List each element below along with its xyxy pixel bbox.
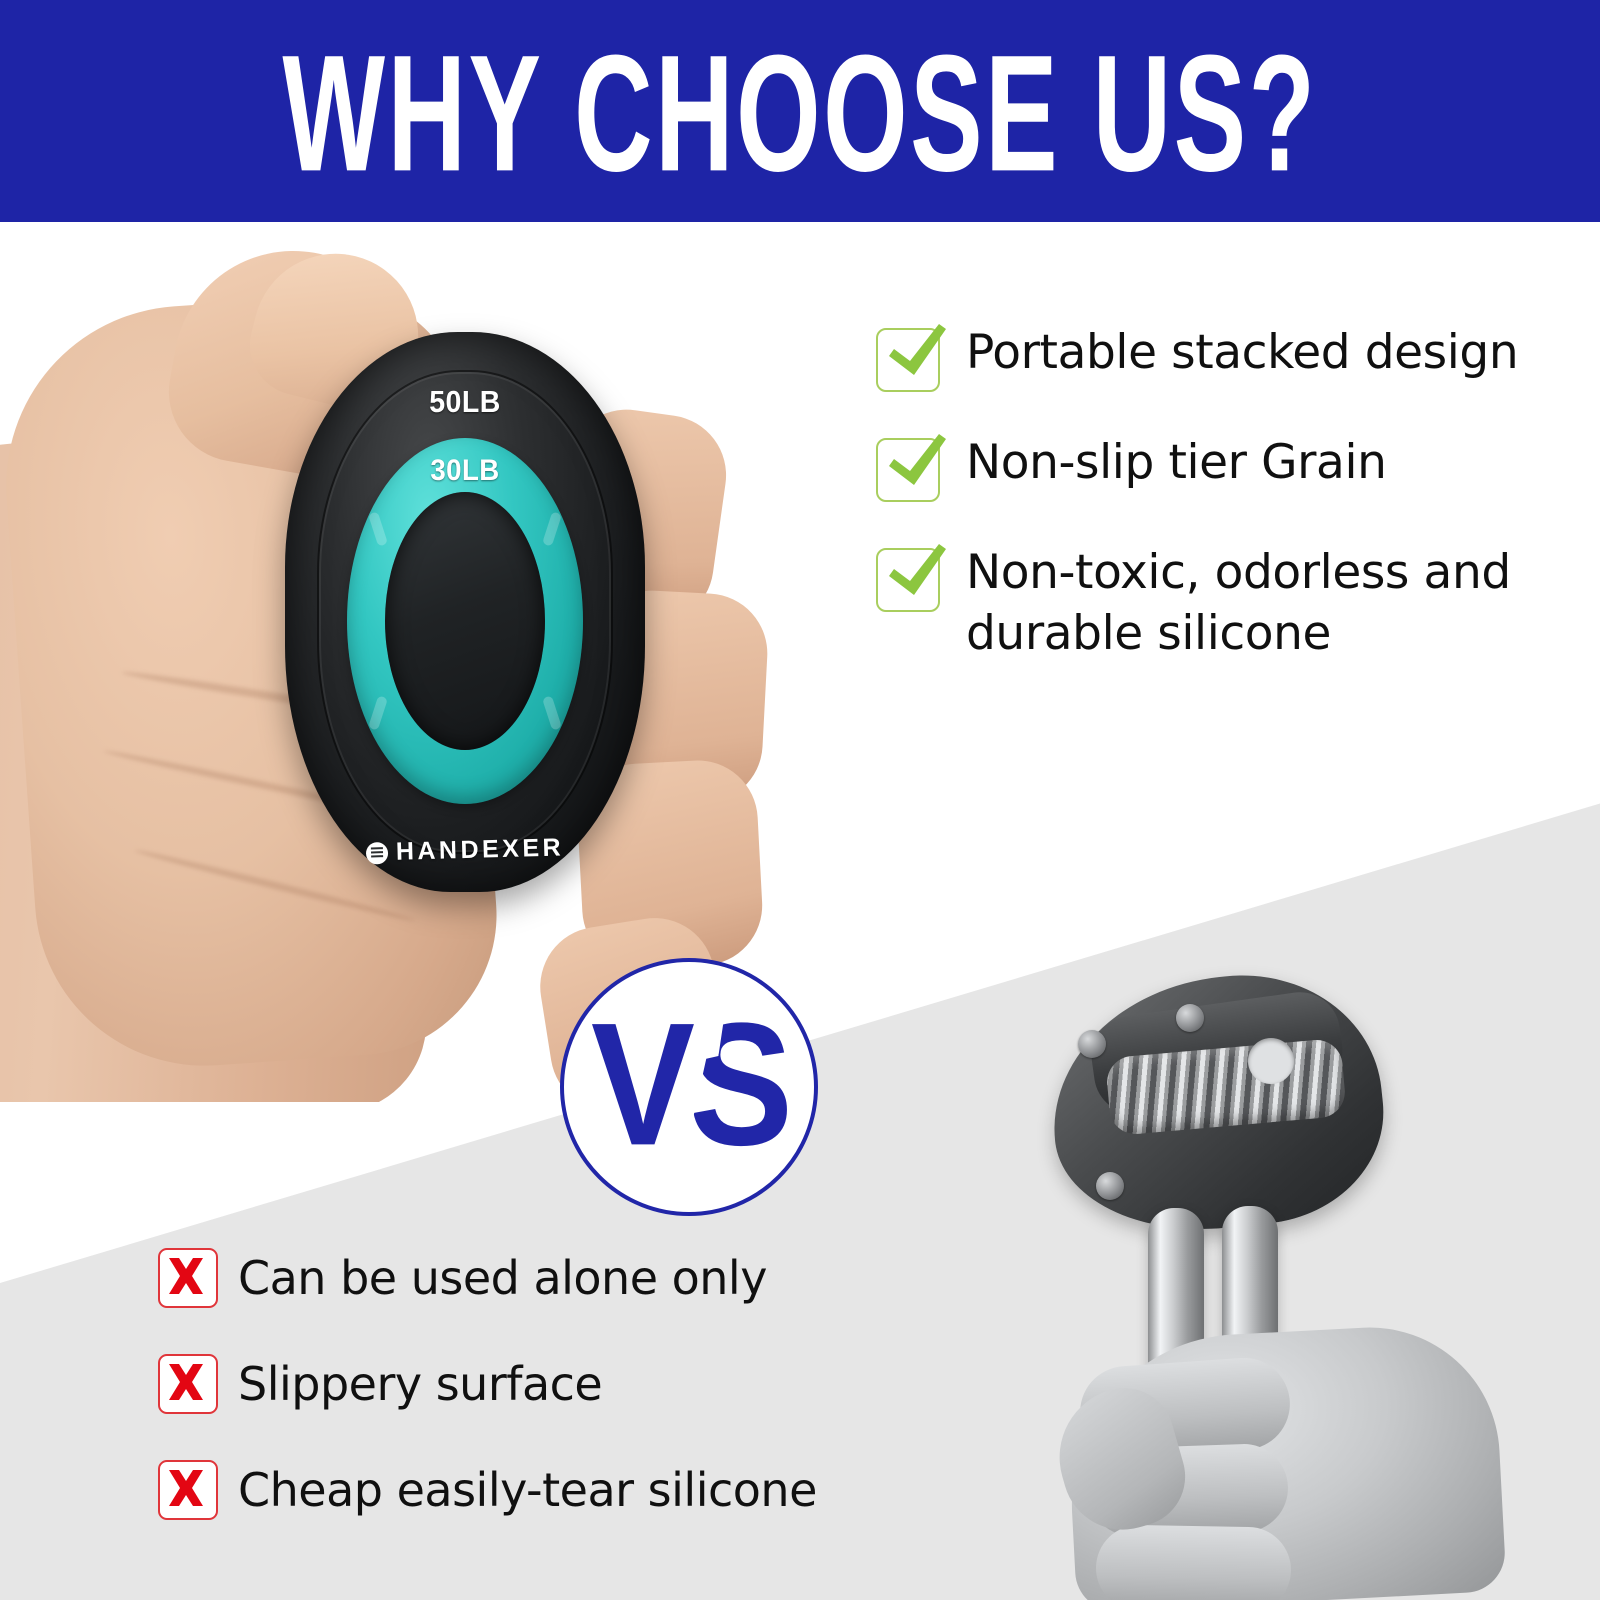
versus-label: VS xyxy=(591,998,787,1173)
versus-badge: VS xyxy=(560,958,818,1216)
teal-inner-ring xyxy=(347,438,583,804)
grip-trainer: 50LB 30LB HANDEXER xyxy=(285,332,645,892)
pros-item-label: Non-toxic, odorless and durable silicone xyxy=(966,542,1566,664)
header-banner: WHY CHOOSE US? xyxy=(0,0,1600,222)
teal-ring-nub xyxy=(542,695,562,730)
teal-ring-hole xyxy=(385,492,545,750)
list-item: Non-slip tier Grain xyxy=(876,432,1566,502)
teal-ring-nub xyxy=(542,511,562,546)
x-icon xyxy=(158,1354,218,1414)
list-item: Slippery surface xyxy=(158,1354,918,1414)
list-item: Can be used alone only xyxy=(158,1248,918,1308)
brand-name: HANDEXER xyxy=(395,833,564,866)
pros-list: Portable stacked design Non-slip tier Gr… xyxy=(876,322,1566,704)
x-icon xyxy=(158,1248,218,1308)
gripper-screw xyxy=(1096,1172,1124,1200)
check-icon xyxy=(876,328,940,392)
fist-icon xyxy=(366,842,389,865)
pros-item-label: Non-slip tier Grain xyxy=(966,432,1387,493)
teal-ring-nub xyxy=(368,695,388,730)
list-item: Non-toxic, odorless and durable silicone xyxy=(876,542,1566,664)
weight-label-outer: 50LB xyxy=(299,384,630,420)
gripper-screw xyxy=(1078,1030,1106,1058)
x-icon xyxy=(158,1460,218,1520)
check-icon xyxy=(876,548,940,612)
page-title: WHY CHOOSE US? xyxy=(282,30,1317,196)
infographic-canvas: WHY CHOOSE US? 5 xyxy=(0,0,1600,1600)
brand-logo: HANDEXER xyxy=(285,831,646,869)
cons-item-label: Can be used alone only xyxy=(238,1252,767,1305)
competitor-photo-spring-gripper xyxy=(1000,960,1520,1600)
check-icon xyxy=(876,438,940,502)
list-item: Portable stacked design xyxy=(876,322,1566,392)
competitor-finger xyxy=(1095,1524,1291,1600)
weight-label-inner: 30LB xyxy=(299,454,630,488)
teal-ring-nub xyxy=(368,511,388,546)
gripper-screw xyxy=(1176,1004,1204,1032)
gripper-hole xyxy=(1248,1038,1294,1084)
cons-list: Can be used alone only Slippery surface … xyxy=(158,1248,918,1566)
list-item: Cheap easily-tear silicone xyxy=(158,1460,918,1520)
cons-item-label: Slippery surface xyxy=(238,1358,602,1411)
cons-item-label: Cheap easily-tear silicone xyxy=(238,1464,817,1517)
pros-item-label: Portable stacked design xyxy=(966,322,1518,383)
